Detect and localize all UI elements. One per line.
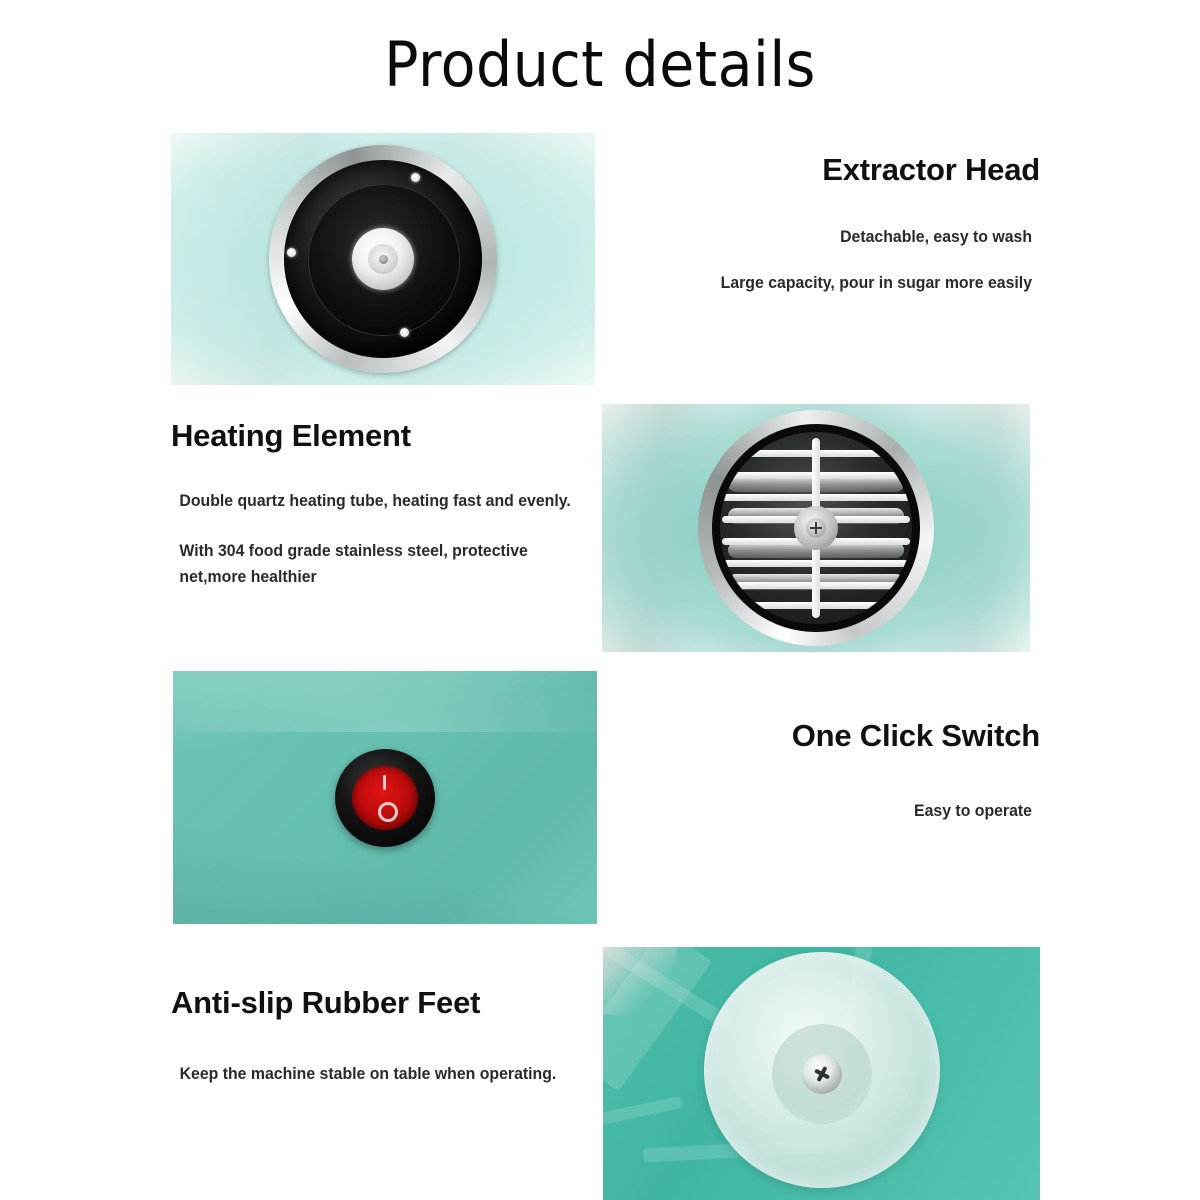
screw-icon bbox=[802, 1054, 842, 1094]
power-on-icon bbox=[383, 775, 386, 790]
power-off-icon bbox=[378, 802, 398, 822]
section-extractor-head: Extractor Head Detachable, easy to wash … bbox=[640, 152, 1040, 296]
section-line: With 304 food grade stainless steel, pro… bbox=[179, 538, 582, 590]
section-line: Detachable, easy to wash bbox=[648, 224, 1032, 250]
section-anti-slip-rubber-feet: Anti-slip Rubber Feet Keep the machine s… bbox=[171, 985, 601, 1087]
section-one-click-switch: One Click Switch Easy to operate bbox=[640, 718, 1040, 824]
section-line: Double quartz heating tube, heating fast… bbox=[179, 488, 582, 514]
corner-highlight bbox=[603, 947, 677, 1015]
page-title: Product details bbox=[48, 28, 1152, 101]
section-line: Easy to operate bbox=[648, 798, 1032, 824]
center-cap-dot bbox=[379, 255, 388, 264]
highlight-sheen bbox=[173, 671, 597, 732]
heating-element-photo bbox=[602, 404, 1030, 652]
section-heading: Anti-slip Rubber Feet bbox=[171, 985, 601, 1021]
rubber-foot-photo bbox=[603, 947, 1040, 1200]
power-switch-photo bbox=[173, 671, 597, 924]
screw-icon bbox=[411, 173, 420, 182]
screw-icon bbox=[287, 248, 296, 257]
section-heading: One Click Switch bbox=[640, 718, 1040, 754]
extractor-head-photo bbox=[171, 133, 595, 385]
section-heading: Heating Element bbox=[171, 418, 591, 454]
section-line: Large capacity, pour in sugar more easil… bbox=[648, 270, 1032, 296]
screw-icon bbox=[806, 518, 826, 538]
section-heading: Extractor Head bbox=[640, 152, 1040, 188]
section-heating-element: Heating Element Double quartz heating tu… bbox=[171, 418, 591, 590]
section-line: Keep the machine stable on table when op… bbox=[180, 1061, 593, 1087]
screw-icon bbox=[400, 328, 409, 337]
